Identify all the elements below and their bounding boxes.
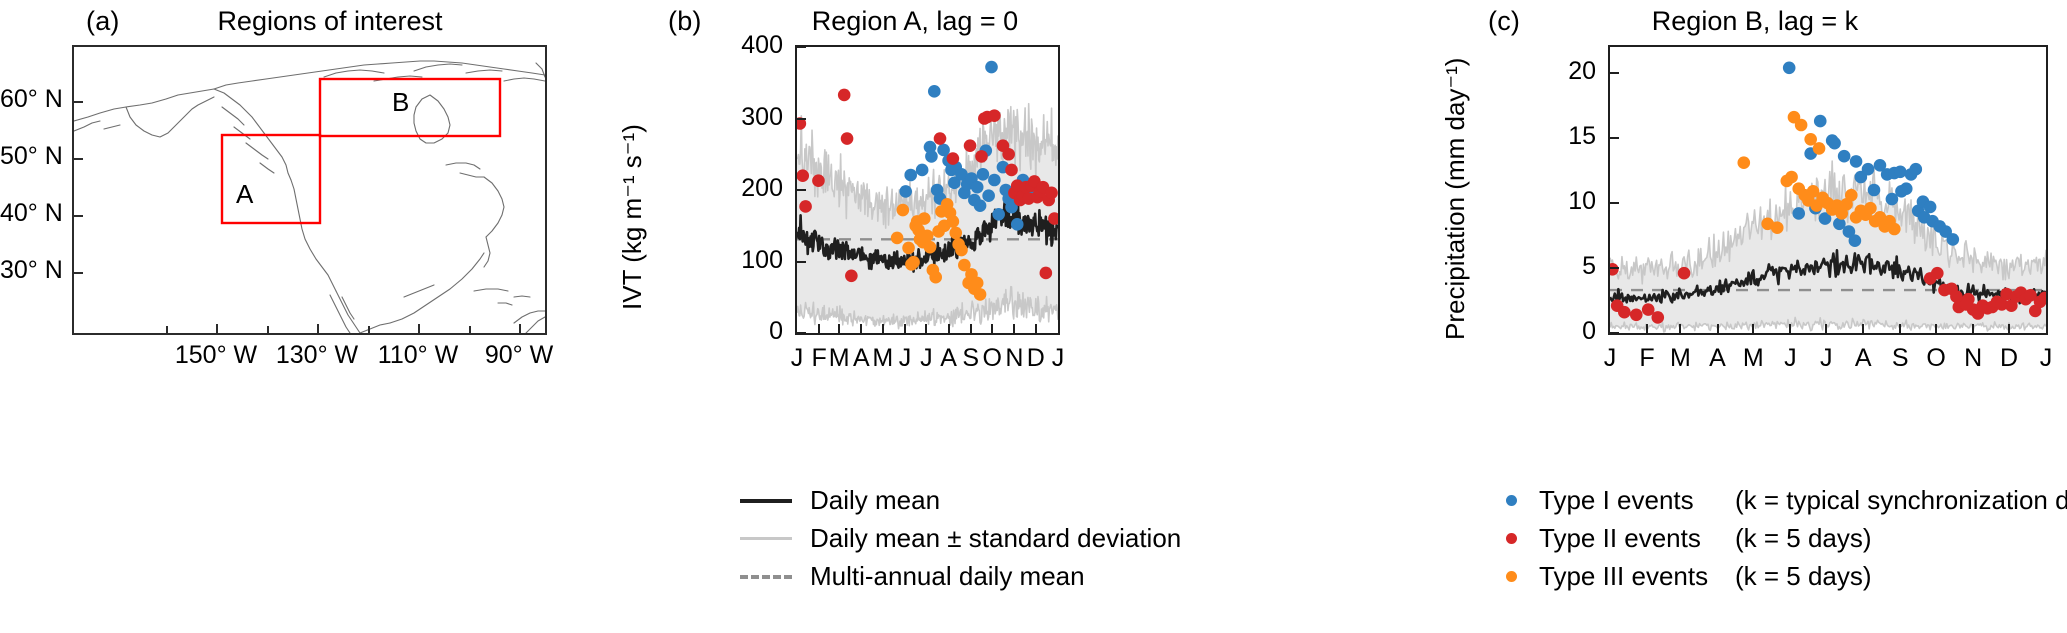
event-point bbox=[992, 208, 1005, 221]
region-boxes bbox=[222, 79, 500, 223]
legend-row-line: Daily mean ± standard deviation bbox=[740, 523, 1181, 554]
map-lon-tick bbox=[216, 324, 218, 335]
panel_b-ytick bbox=[795, 261, 806, 263]
event-point bbox=[1849, 234, 1862, 247]
panel_c-xtick bbox=[2008, 324, 2010, 335]
panel_c-xtick bbox=[1935, 324, 1937, 335]
event-point bbox=[1864, 202, 1877, 215]
panel_c-xtick bbox=[1679, 324, 1681, 335]
panel_b-ytick-label: 0 bbox=[705, 317, 783, 346]
legend-label-note: (k = typical synchronization delay) bbox=[1735, 485, 2067, 515]
event-point bbox=[1792, 207, 1805, 220]
legend-label-note: (k = 5 days) bbox=[1735, 523, 1872, 553]
event-point bbox=[1651, 311, 1664, 324]
event-point bbox=[1947, 233, 1960, 246]
event-point bbox=[812, 174, 825, 187]
event-point bbox=[937, 144, 950, 157]
map-lon-minor-tick bbox=[469, 326, 471, 335]
panel_b-plot-area bbox=[795, 45, 1060, 335]
legend-row-line: Multi-annual daily mean bbox=[740, 561, 1085, 592]
panel_c-ytick bbox=[1608, 137, 1619, 139]
panel_b-xtick bbox=[970, 324, 972, 335]
panel_c-title: Region B, lag = k bbox=[1560, 6, 1950, 37]
legend-label-type: Type III events bbox=[1539, 561, 1735, 592]
event-point bbox=[985, 61, 998, 74]
event-point bbox=[974, 288, 987, 301]
event-point bbox=[1960, 298, 1973, 311]
map-lon-minor-tick bbox=[368, 326, 370, 335]
event-point bbox=[1040, 267, 1053, 280]
panel_c-xtick bbox=[1972, 324, 1974, 335]
legend-row-marker: Type II events(k = 5 days) bbox=[1486, 523, 1872, 554]
panel_c-ytick bbox=[1608, 72, 1619, 74]
event-point bbox=[799, 200, 812, 213]
legend-label: Type II events(k = 5 days) bbox=[1539, 523, 1872, 554]
map-lon-tick bbox=[418, 324, 420, 335]
panel_c-xtick bbox=[1862, 324, 1864, 335]
event-point bbox=[929, 271, 942, 284]
panel_c-xtick bbox=[1789, 324, 1791, 335]
event-point bbox=[1813, 142, 1826, 155]
event-point bbox=[1850, 155, 1863, 168]
map-lat-label: 60° N bbox=[0, 85, 62, 114]
panel_b-ytick bbox=[795, 332, 806, 334]
event-point bbox=[949, 227, 962, 240]
event-point bbox=[1795, 119, 1808, 132]
map-lon-minor-tick bbox=[166, 326, 168, 335]
event-point bbox=[982, 189, 995, 202]
legend-line-swatch bbox=[740, 537, 792, 540]
panel_b-xtick bbox=[1035, 324, 1037, 335]
map-lon-minor-tick bbox=[267, 326, 269, 335]
event-point bbox=[1845, 189, 1858, 202]
event-point bbox=[841, 132, 854, 145]
legend-dot-swatch bbox=[1506, 533, 1517, 544]
event-point bbox=[947, 152, 960, 165]
panel_c-ytick-label: 5 bbox=[1550, 252, 1596, 281]
panel_c-ytick-label: 0 bbox=[1550, 317, 1596, 346]
event-point bbox=[934, 132, 947, 145]
event-point bbox=[1931, 267, 1944, 280]
panel_b-xtick bbox=[818, 324, 820, 335]
coastlines bbox=[74, 61, 545, 333]
panel_b-xtick bbox=[860, 324, 862, 335]
legend-label: Multi-annual daily mean bbox=[810, 561, 1085, 592]
event-point bbox=[977, 168, 990, 181]
legend-label-note: (k = 5 days) bbox=[1735, 561, 1872, 591]
legend-label: Type I events(k = typical synchronizatio… bbox=[1539, 485, 2067, 516]
map-plot-area bbox=[72, 45, 547, 335]
event-point bbox=[1886, 193, 1899, 206]
panel_b-xtick bbox=[948, 324, 950, 335]
panel_c-ytick bbox=[1608, 202, 1619, 204]
panel_b-tag: (b) bbox=[668, 6, 702, 37]
event-point bbox=[891, 232, 904, 245]
panel_c-plot-area bbox=[1608, 45, 2048, 335]
legend-label: Daily mean bbox=[810, 485, 940, 516]
event-point bbox=[1783, 62, 1796, 75]
event-point bbox=[902, 242, 915, 255]
panel_b-ytick-label: 400 bbox=[705, 31, 783, 60]
event-point bbox=[1868, 184, 1881, 197]
panel_b-ytick bbox=[795, 189, 806, 191]
event-point bbox=[1888, 223, 1901, 236]
event-point bbox=[988, 174, 1001, 187]
map-lon-tick bbox=[317, 324, 319, 335]
legend-row-marker: Type III events(k = 5 days) bbox=[1486, 561, 1872, 592]
figure-root: (a)Regions of interestAB60° N50° N40° N3… bbox=[0, 0, 2067, 633]
event-point bbox=[838, 89, 851, 102]
event-point bbox=[971, 277, 984, 290]
panel_c-xtick bbox=[1717, 324, 1719, 335]
event-point bbox=[916, 164, 929, 177]
legend-label: Type III events(k = 5 days) bbox=[1539, 561, 1872, 592]
legend-label: Daily mean ± standard deviation bbox=[810, 523, 1181, 554]
panel_b-xtick bbox=[991, 324, 993, 335]
panel_b-ytick-label: 200 bbox=[705, 174, 783, 203]
event-point bbox=[964, 139, 977, 152]
event-point bbox=[971, 181, 984, 194]
panel_c-ytick bbox=[1608, 332, 1619, 334]
event-point bbox=[988, 109, 1001, 122]
panel-a-tag: (a) bbox=[86, 6, 120, 37]
map-lat-tick bbox=[72, 101, 83, 103]
event-point bbox=[1737, 156, 1750, 169]
event-point bbox=[955, 244, 968, 257]
panel_c-ytick-label: 20 bbox=[1550, 57, 1596, 86]
event-point bbox=[1785, 171, 1798, 184]
legend-dot-swatch bbox=[1506, 495, 1517, 506]
event-point bbox=[899, 185, 912, 198]
region-label-a: A bbox=[236, 179, 253, 210]
legend-label-type: Type II events bbox=[1539, 523, 1735, 554]
event-point bbox=[1771, 221, 1784, 234]
event-point bbox=[924, 241, 937, 254]
region-box-b bbox=[320, 79, 500, 136]
panel_c-xtick bbox=[1825, 324, 1827, 335]
event-point bbox=[897, 204, 910, 217]
panel_b-ytick bbox=[795, 118, 806, 120]
panel_c-xtick bbox=[1646, 324, 1648, 335]
panel_c-xtick bbox=[1752, 324, 1754, 335]
event-point bbox=[845, 270, 858, 283]
event-point bbox=[1618, 306, 1631, 319]
event-point bbox=[1894, 166, 1907, 179]
panel_b-xtick bbox=[904, 324, 906, 335]
event-point bbox=[1838, 150, 1851, 163]
event-point bbox=[1862, 163, 1875, 176]
panel_c-xtick-label: J bbox=[2021, 344, 2067, 373]
legend-line-swatch bbox=[740, 499, 792, 503]
event-point bbox=[1005, 164, 1018, 177]
panel-a-title: Regions of interest bbox=[170, 6, 490, 37]
event-point bbox=[975, 150, 988, 163]
panel_c-tag: (c) bbox=[1488, 6, 1520, 37]
event-point bbox=[974, 199, 987, 212]
event-point bbox=[947, 215, 960, 228]
map-lat-label: 30° N bbox=[0, 256, 62, 285]
event-point bbox=[918, 212, 931, 225]
event-point bbox=[921, 229, 934, 242]
map-lat-label: 50° N bbox=[0, 142, 62, 171]
panel_c-ytick-label: 15 bbox=[1550, 122, 1596, 151]
legend-line-swatch bbox=[740, 575, 792, 579]
event-point bbox=[907, 256, 920, 269]
panel_b-xtick bbox=[882, 324, 884, 335]
map-lat-tick bbox=[72, 272, 83, 274]
event-point bbox=[1924, 201, 1937, 214]
panel_c-ytick bbox=[1608, 267, 1619, 269]
event-point bbox=[904, 169, 917, 182]
event-point bbox=[1814, 115, 1827, 128]
panel_b-ylabel: IVT (kg m⁻¹ s⁻¹) bbox=[617, 124, 648, 310]
map-lon-label: 90° W bbox=[457, 341, 581, 370]
legend-row-line: Daily mean bbox=[740, 485, 940, 516]
event-point bbox=[925, 150, 938, 163]
panel_b-xtick bbox=[838, 324, 840, 335]
event-point bbox=[1002, 148, 1015, 161]
panel_c-ylabel: Precipitation (mm day⁻¹) bbox=[1440, 58, 1471, 340]
event-point bbox=[1910, 163, 1923, 176]
map-lon-tick bbox=[519, 324, 521, 335]
map-lat-tick bbox=[72, 215, 83, 217]
legend-dot-swatch bbox=[1506, 571, 1517, 582]
legend-row-marker: Type I events(k = typical synchronizatio… bbox=[1486, 485, 2067, 516]
legend-label-type: Type I events bbox=[1539, 485, 1735, 516]
event-point bbox=[1011, 218, 1024, 231]
panel_c-xtick bbox=[1899, 324, 1901, 335]
panel_b-xtick bbox=[925, 324, 927, 335]
event-point bbox=[1045, 187, 1058, 200]
event-point bbox=[1828, 137, 1841, 150]
panel_b-ytick-label: 100 bbox=[705, 246, 783, 275]
map-lat-tick bbox=[72, 158, 83, 160]
event-point bbox=[1678, 267, 1691, 280]
event-point bbox=[928, 85, 941, 98]
panel_b-ytick-label: 300 bbox=[705, 103, 783, 132]
panel_b-ytick bbox=[795, 46, 806, 48]
event-point bbox=[1630, 309, 1643, 322]
panel_b-xtick-label: J bbox=[1033, 344, 1083, 373]
region-label-b: B bbox=[392, 87, 409, 118]
panel_b-xtick bbox=[1013, 324, 1015, 335]
panel_c-ytick-label: 10 bbox=[1550, 187, 1596, 216]
event-point bbox=[797, 169, 809, 182]
map-lat-label: 40° N bbox=[0, 199, 62, 228]
